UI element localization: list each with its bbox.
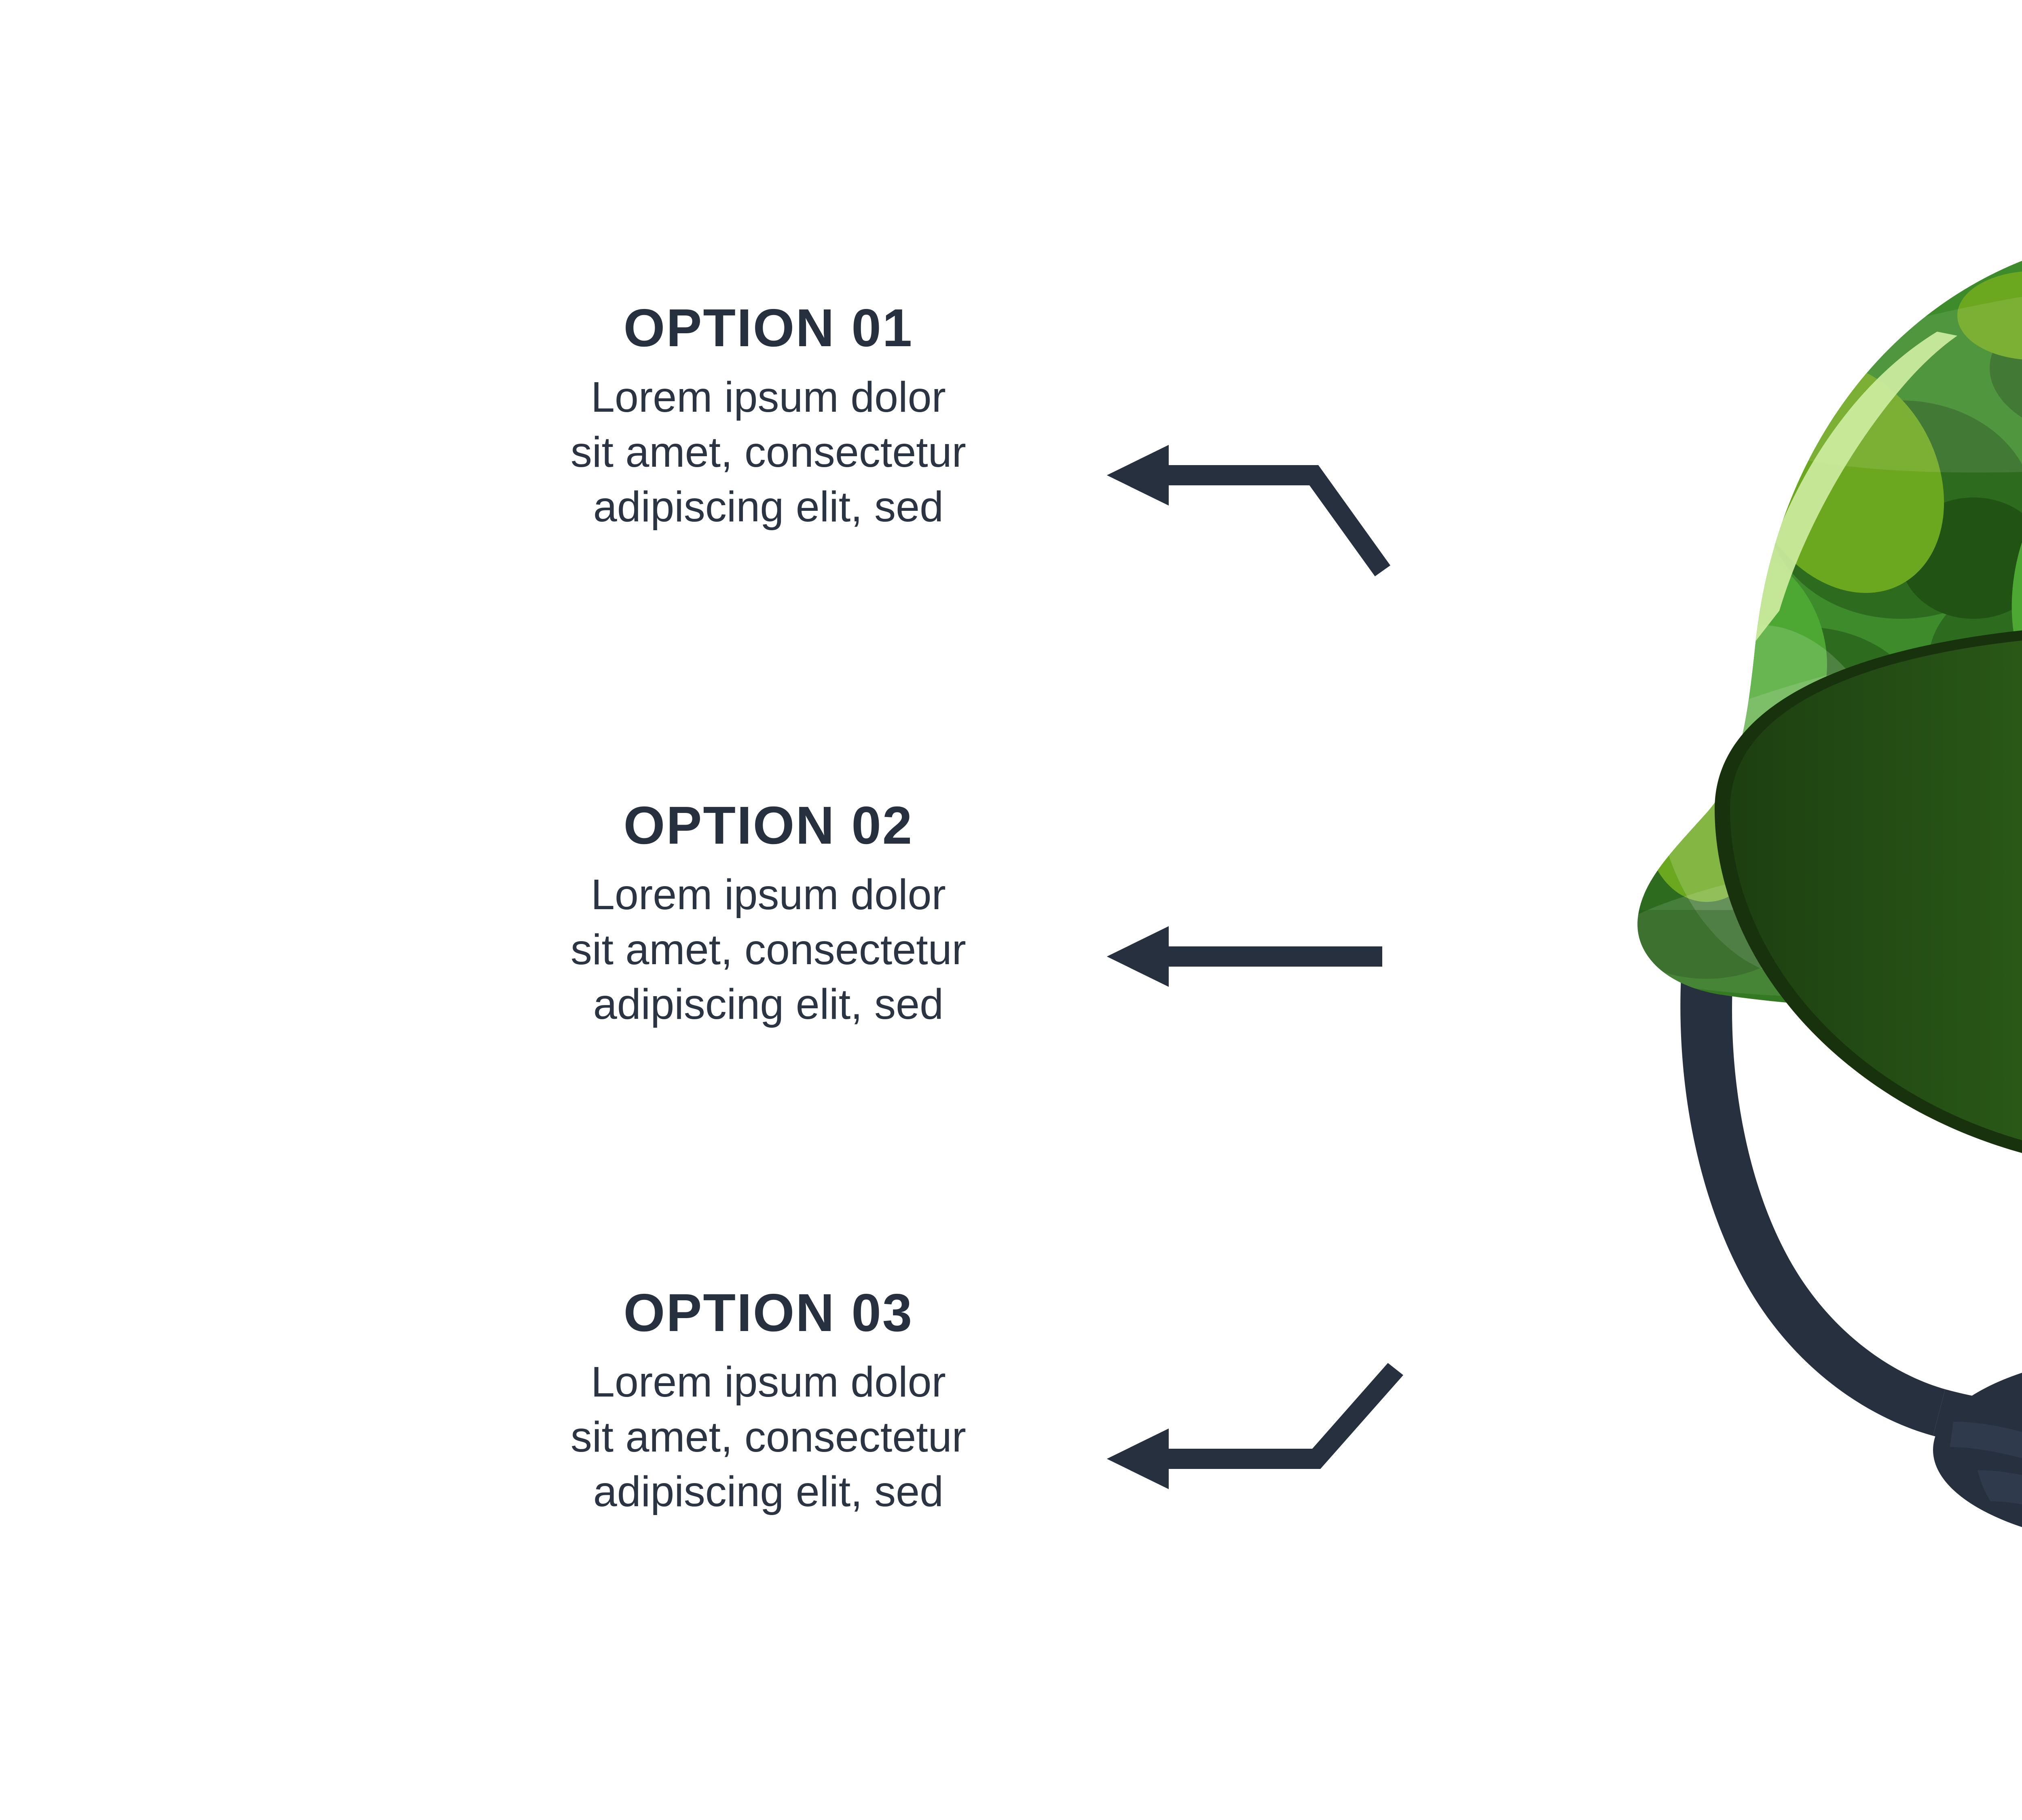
option-desc-line: sit amet, consectetur (516, 923, 1021, 978)
option-desc-line: Lorem ipsum dolor (516, 1355, 1021, 1410)
option-desc-line: sit amet, consectetur (516, 1410, 1021, 1465)
option-title-1: OPTION 01 (516, 301, 1021, 355)
option-description-1: Lorem ipsum dolor sit amet, consectetur … (516, 370, 1021, 535)
option-desc-line: adipiscing elit, sed (516, 977, 1021, 1032)
army-helmet-illustration (1496, 194, 2022, 1589)
arrow-shaft-3 (1165, 1363, 1403, 1469)
option-desc-line: adipiscing elit, sed (516, 480, 1021, 535)
option-block-2: OPTION 02 Lorem ipsum dolor sit amet, co… (516, 799, 1021, 1032)
connector-arrow-2 (1107, 926, 1382, 987)
option-block-1: OPTION 01 Lorem ipsum dolor sit amet, co… (516, 301, 1021, 535)
option-desc-line: sit amet, consectetur (516, 425, 1021, 480)
infographic-canvas: OPTION 01 Lorem ipsum dolor sit amet, co… (0, 0, 2022, 1820)
option-description-2: Lorem ipsum dolor sit amet, consectetur … (516, 868, 1021, 1032)
arrow-head-2 (1107, 926, 1169, 987)
option-block-3: OPTION 03 Lorem ipsum dolor sit amet, co… (516, 1286, 1021, 1519)
arrow-shaft-2 (1165, 946, 1382, 967)
option-desc-line: Lorem ipsum dolor (516, 868, 1021, 923)
option-title-2: OPTION 02 (516, 799, 1021, 852)
connector-arrow-1 (1107, 445, 1390, 576)
option-desc-line: adipiscing elit, sed (516, 1464, 1021, 1519)
chin-cup (1933, 1351, 2022, 1549)
option-title-3: OPTION 03 (516, 1286, 1021, 1340)
option-desc-line: Lorem ipsum dolor (516, 370, 1021, 425)
option-description-3: Lorem ipsum dolor sit amet, consectetur … (516, 1355, 1021, 1519)
arrow-shaft-1 (1165, 465, 1390, 576)
arrow-head-3 (1107, 1428, 1169, 1489)
arrow-head-1 (1107, 445, 1169, 506)
connector-arrow-3 (1107, 1363, 1403, 1489)
